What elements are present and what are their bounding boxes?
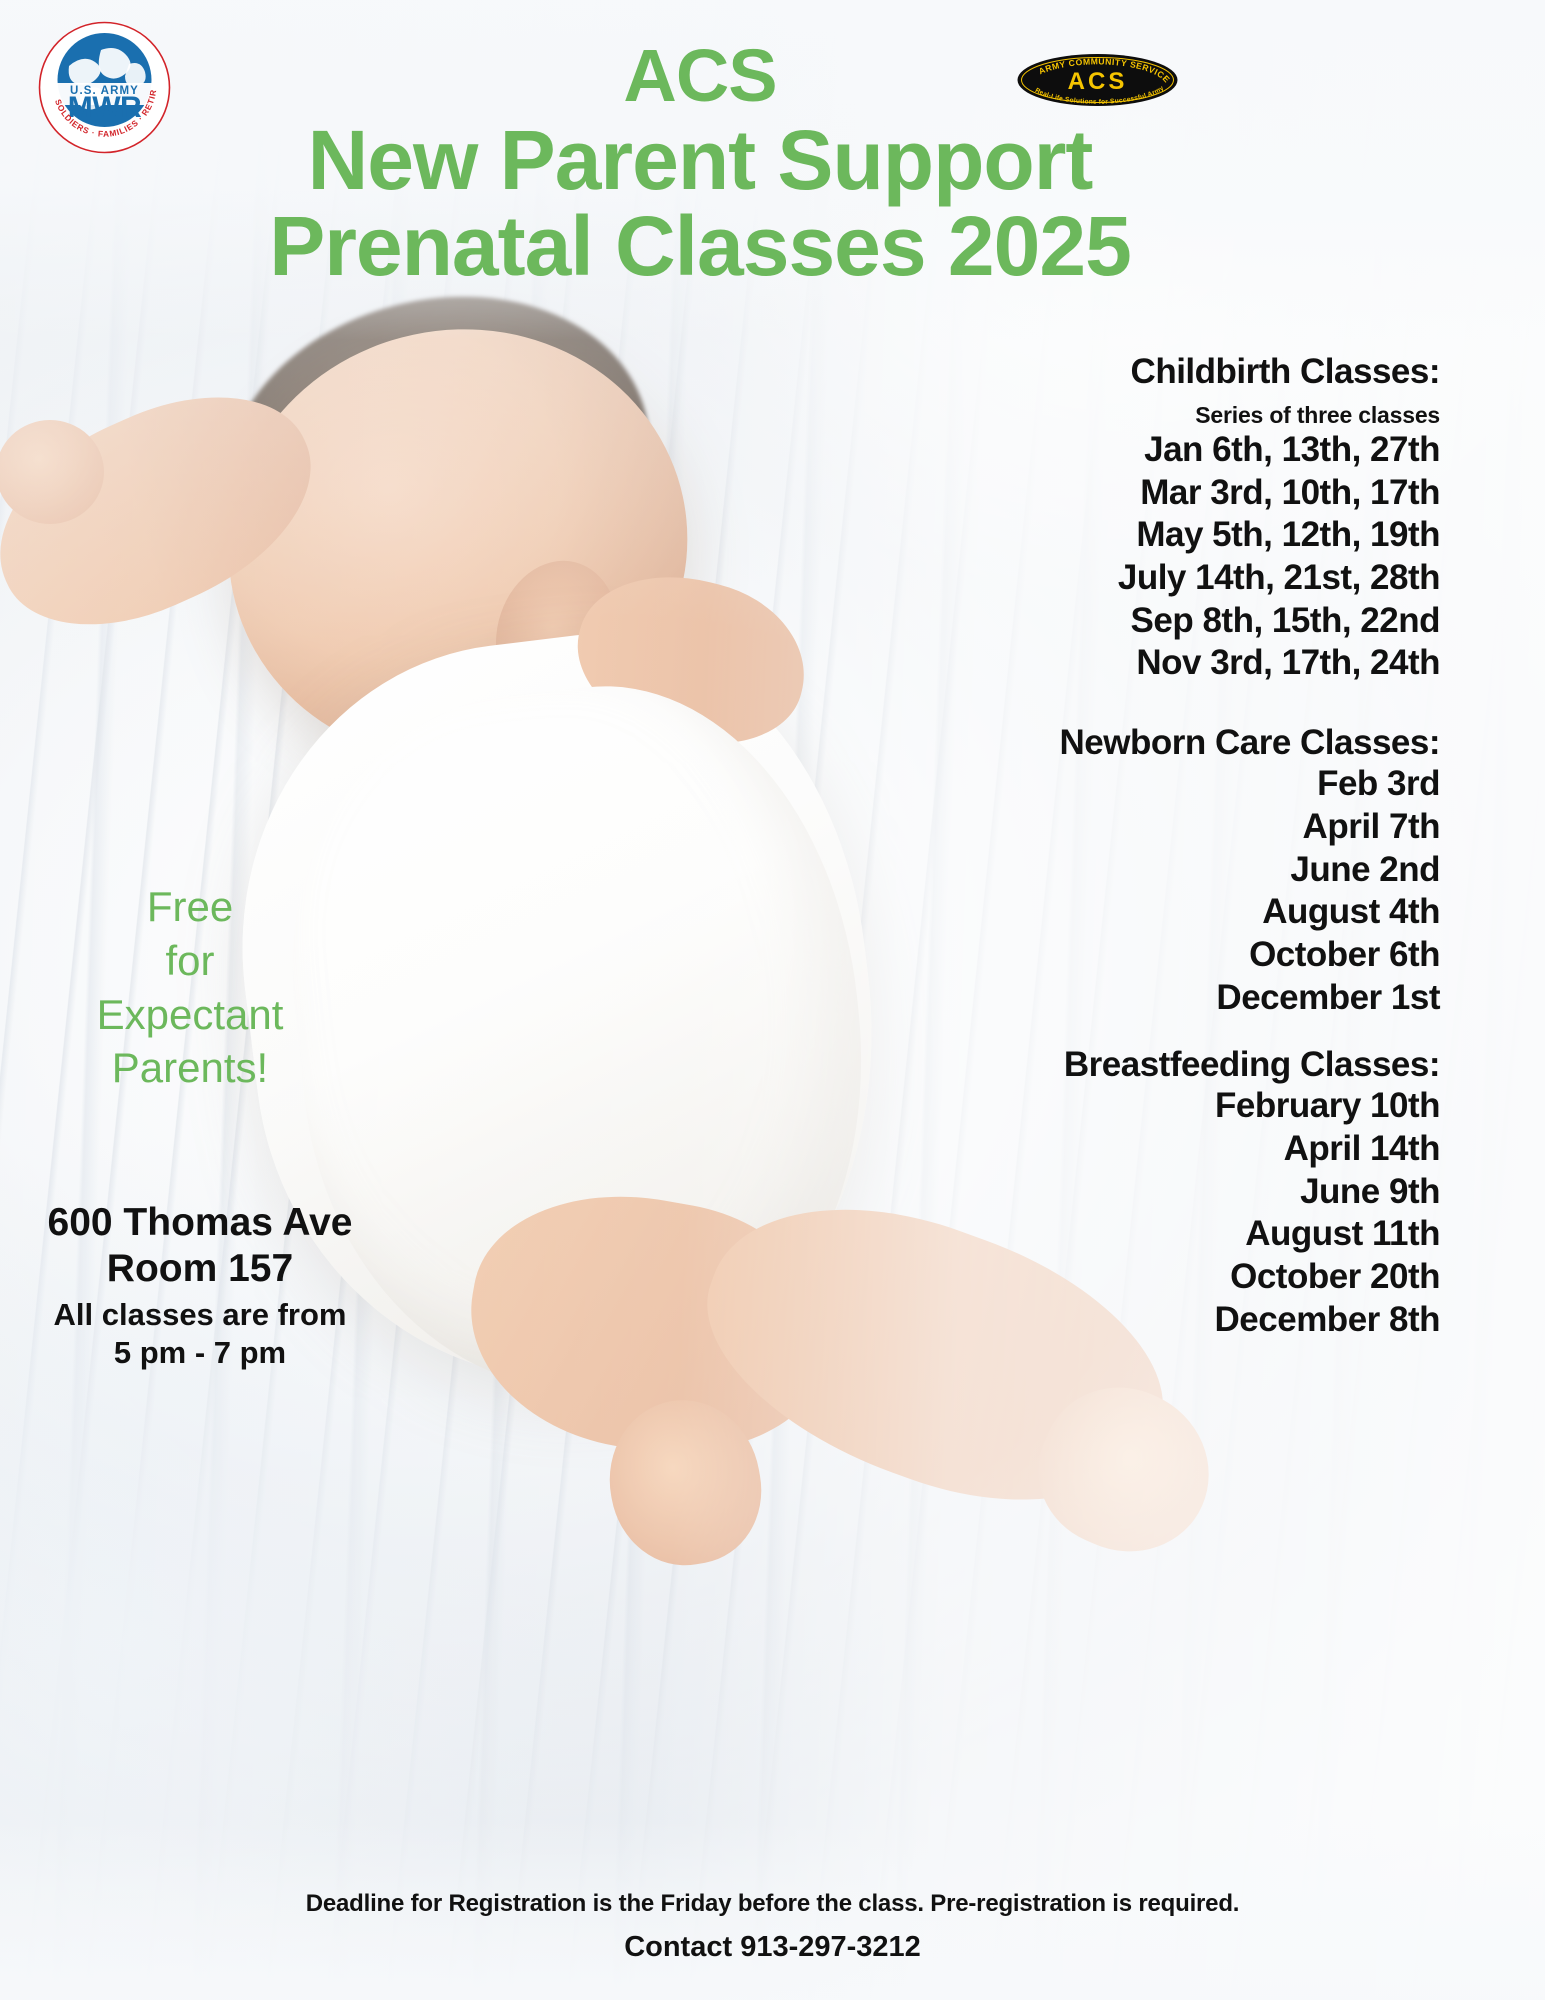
poster-title: ACS New Parent Support Prenatal Classes … bbox=[120, 40, 1280, 287]
class-date: Mar 3rd, 10th, 17th bbox=[740, 472, 1440, 515]
class-time-value: 5 pm - 7 pm bbox=[20, 1334, 380, 1372]
class-date: February 10th bbox=[740, 1085, 1440, 1128]
section-breastfeeding: Breastfeeding Classes: February 10th Apr… bbox=[740, 1045, 1440, 1341]
free-notice-line-3: Expectant bbox=[30, 988, 350, 1042]
class-schedule: Childbirth Classes: Series of three clas… bbox=[740, 352, 1440, 1341]
section-childbirth: Childbirth Classes: Series of three clas… bbox=[740, 352, 1440, 685]
contact-phone: Contact 913-297-3212 bbox=[0, 1931, 1545, 1964]
class-date: December 1st bbox=[740, 977, 1440, 1020]
room-number: Room 157 bbox=[20, 1246, 380, 1292]
class-date: Nov 3rd, 17th, 24th bbox=[740, 642, 1440, 685]
registration-deadline: Deadline for Registration is the Friday … bbox=[0, 1890, 1545, 1918]
class-date: Feb 3rd bbox=[740, 763, 1440, 806]
class-date: April 7th bbox=[740, 806, 1440, 849]
section-heading: Childbirth Classes: bbox=[740, 352, 1440, 392]
class-date: May 5th, 12th, 19th bbox=[740, 514, 1440, 557]
title-line-2: New Parent Support bbox=[120, 119, 1280, 201]
class-time-label: All classes are from bbox=[20, 1296, 380, 1334]
class-date: August 11th bbox=[740, 1213, 1440, 1256]
free-notice-line-2: for bbox=[30, 934, 350, 988]
section-newborn-care: Newborn Care Classes: Feb 3rd April 7th … bbox=[740, 723, 1440, 1019]
flyer-poster: U.S. ARMY MWR SOLDIERS · FAMILIES · RETI… bbox=[0, 0, 1545, 2000]
title-line-1: ACS bbox=[120, 40, 1280, 113]
class-date: Sep 8th, 15th, 22nd bbox=[740, 600, 1440, 643]
class-date: June 2nd bbox=[740, 849, 1440, 892]
title-line-3: Prenatal Classes 2025 bbox=[120, 205, 1280, 287]
free-notice: Free for Expectant Parents! bbox=[30, 880, 350, 1095]
free-notice-line-1: Free bbox=[30, 880, 350, 934]
class-date: October 6th bbox=[740, 934, 1440, 977]
class-date: July 14th, 21st, 28th bbox=[740, 557, 1440, 600]
street-address: 600 Thomas Ave bbox=[20, 1200, 380, 1246]
section-subheading: Series of three classes bbox=[740, 402, 1440, 429]
class-date: Jan 6th, 13th, 27th bbox=[740, 429, 1440, 472]
class-date: August 4th bbox=[740, 891, 1440, 934]
free-notice-line-4: Parents! bbox=[30, 1041, 350, 1095]
class-date: April 14th bbox=[740, 1128, 1440, 1171]
section-heading: Newborn Care Classes: bbox=[740, 723, 1440, 763]
location-block: 600 Thomas Ave Room 157 All classes are … bbox=[20, 1200, 380, 1372]
section-heading: Breastfeeding Classes: bbox=[740, 1045, 1440, 1085]
class-date: June 9th bbox=[740, 1171, 1440, 1214]
class-date: December 8th bbox=[740, 1299, 1440, 1342]
class-date: October 20th bbox=[740, 1256, 1440, 1299]
footer: Deadline for Registration is the Friday … bbox=[0, 1890, 1545, 1964]
